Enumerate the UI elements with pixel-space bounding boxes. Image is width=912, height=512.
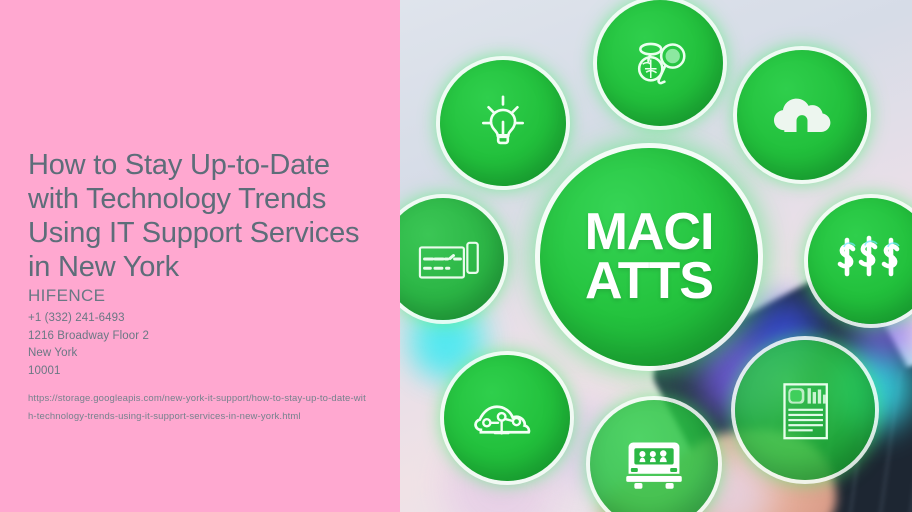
left-info-panel: How to Stay Up-to-Date with Technology T… [0,0,400,512]
contact-phone: +1 (332) 241-6493 [28,310,378,328]
promo-card: How to Stay Up-to-Date with Technology T… [0,0,912,512]
lightbulb-icon [468,88,538,158]
page-title: How to Stay Up-to-Date with Technology T… [28,148,384,284]
node-magnifier[interactable] [597,0,723,126]
document-report-icon [764,369,846,451]
brand-name: HIFENCE [28,286,105,306]
credit-card-icon [413,222,487,296]
contact-details: +1 (332) 241-6493 1216 Broadway Floor 2 … [28,310,378,380]
source-url[interactable]: https://storage.googleapis.com/new-york-… [28,390,368,426]
center-label-line1: MACI [585,208,714,257]
dollar-sign-icon [831,228,911,294]
cloud-network-icon [469,380,545,456]
node-lightbulb[interactable] [440,60,566,186]
node-cloud[interactable] [737,50,867,180]
center-label-line2: ATTS [585,257,713,306]
cloud-icon [763,76,841,154]
bokeh-cyan-2 [418,320,473,375]
contact-street: 1216 Broadway Floor 2 [28,328,378,346]
contact-city: New York [28,345,378,363]
hero-image-panel: MACI ATTS [400,0,912,512]
center-node-maci-atts[interactable]: MACI ATTS [540,148,758,366]
node-cloud-network[interactable] [444,355,570,481]
node-document[interactable] [735,340,875,480]
node-credit-card[interactable] [400,198,504,320]
magnifying-glass-icon [623,26,697,100]
bus-icon [617,424,691,498]
contact-zip: 10001 [28,363,378,381]
